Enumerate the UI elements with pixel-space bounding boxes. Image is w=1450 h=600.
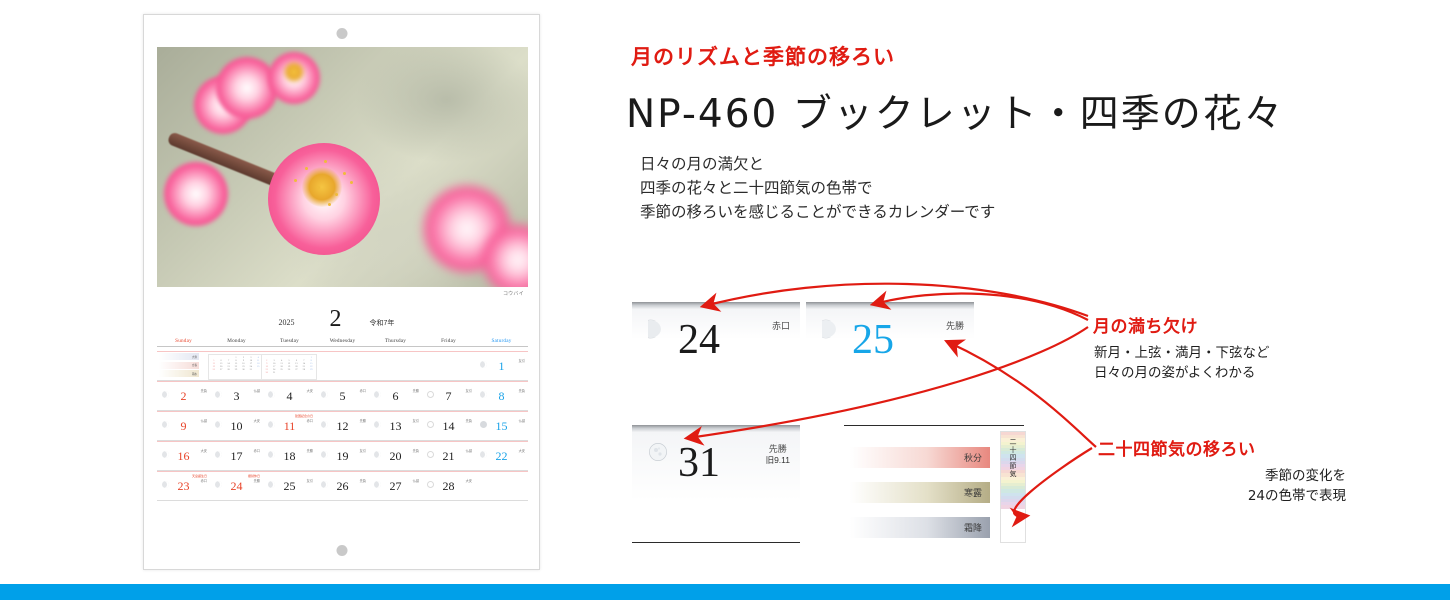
moon-phase-icon [268, 451, 275, 458]
annotation-line: 日々の月の姿がよくわかる [1094, 364, 1270, 384]
mini-calendar-previous-month: 1234567891011121314151617181920212223242… [208, 354, 264, 380]
season-band-label: 霜降 [964, 521, 990, 534]
calendar-day-cell: 18先勝 [263, 441, 316, 470]
day-number: 11 [284, 420, 296, 432]
weekday-header-row: SundayMondayTuesdayWednesdayThursdayFrid… [157, 338, 528, 347]
day-number: 7 [446, 390, 452, 402]
calendar-day-cell: 25友引 [263, 471, 316, 500]
moon-phase-icon [427, 451, 434, 458]
moon-phase-icon [268, 421, 275, 428]
description-line: 季節の移ろいを感じることができるカレンダーです [640, 200, 995, 224]
sample-day-number: 25 [852, 319, 894, 361]
rokuyou-label: 大安 [254, 419, 260, 423]
holiday-label: 天皇誕生日 [192, 474, 207, 478]
moon-phase-icon [374, 481, 381, 488]
rokuyou-label: 友引 [307, 479, 313, 483]
page-title: NP-460 ブックレット・四季の花々 [626, 83, 1285, 139]
weekday-header-saturday: Saturday [475, 338, 528, 347]
calendar-era: 令和7年 [370, 318, 395, 328]
sample-rokuyou: 先勝 [946, 321, 964, 332]
moon-phase-icon [427, 421, 434, 428]
holiday-label: 建国記念の日 [295, 414, 313, 418]
moon-phase-icon [321, 451, 328, 458]
rokuyou-label: 大安 [519, 449, 525, 453]
moon-phase-icon [321, 481, 328, 488]
rokuyou-label: 先勝 [413, 389, 419, 393]
rokuyou-label: 先負 [360, 479, 366, 483]
sample-rokuyou: 赤口 [772, 321, 790, 332]
band-legend-label: 立春 [192, 363, 197, 367]
annotation-body-moon: 新月・上弦・満月・下弦など日々の月の姿がよくわかる [1094, 344, 1270, 383]
calendar-day-cell: 28大安 [422, 471, 475, 500]
moon-phase-icon [268, 391, 275, 398]
sample-day-31: 31 先勝 旧9.11 [632, 425, 800, 543]
calendar-day-cell: 19友引 [316, 441, 369, 470]
day-number: 3 [234, 390, 240, 402]
band-legend-item: 大寒 [159, 353, 199, 360]
product-info-panel: 月のリズムと季節の移ろい NP-460 ブックレット・四季の花々 日々の月の満欠… [626, 0, 1450, 600]
calendar-day-cell: 12先勝 [316, 411, 369, 440]
moon-phase-icon [215, 451, 222, 458]
calendar-empty-cell: 1234567891011121314151617181920212223242… [263, 351, 316, 380]
day-number: 28 [443, 480, 455, 492]
moon-phase-icon [427, 391, 434, 398]
sample-day-number: 31 [678, 442, 720, 484]
day-number: 15 [496, 420, 508, 432]
calendar-day-cell: 1友引 [475, 351, 528, 380]
annotation-title-moon: 月の満ち欠け [1093, 312, 1198, 337]
day-number: 20 [390, 450, 402, 462]
moon-phase-icon [162, 421, 169, 428]
calendar-day-cell: 13友引 [369, 411, 422, 440]
weekday-header-wednesday: Wednesday [316, 338, 369, 347]
day-number: 8 [499, 390, 505, 402]
moon-phase-icon [427, 481, 434, 488]
rokuyou-label: 先勝 [360, 419, 366, 423]
annotation-line: 新月・上弦・満月・下弦など [1094, 344, 1270, 364]
rokuyou-label: 先負 [413, 449, 419, 453]
day-number: 17 [231, 450, 243, 462]
moon-phase-icon [374, 391, 381, 398]
moon-phase-icon-waning-crescent [648, 319, 668, 339]
calendar-empty-cell [369, 351, 422, 380]
sample-day-24: 24 赤口 [632, 302, 800, 358]
rokuyou-label: 友引 [360, 449, 366, 453]
lead-copy: 月のリズムと季節の移ろい [631, 41, 895, 71]
calendar-day-cell: 17赤口 [210, 441, 263, 470]
rokuyou-label: 赤口 [307, 419, 313, 423]
weekday-header-monday: Monday [210, 338, 263, 347]
calendar-day-cell: 14先負 [422, 411, 475, 440]
annotation-line: 24の色帯で表現 [1116, 487, 1346, 507]
moon-phase-icon-gibbous [648, 442, 668, 462]
rokuyou-label: 先勝 [254, 479, 260, 483]
calendar-empty-cell [475, 471, 528, 500]
moon-phase-icon-crescent [822, 319, 842, 339]
calendar-day-cell: 5赤口 [316, 381, 369, 410]
calendar-header: 2025 2 令和7年 [144, 307, 539, 339]
calendar-day-cell: 26先負 [316, 471, 369, 500]
calendar-day-cell: 24先勝振替休日 [210, 471, 263, 500]
rokuyou-label: 赤口 [201, 479, 207, 483]
calendar-week-row: 大寒立春雨水 123456789101112131415161718192021… [157, 351, 528, 381]
moon-phase-icon [374, 421, 381, 428]
annotation-title-season: 二十四節気の移ろい [1098, 435, 1256, 460]
calendar-day-cell: 11赤口建国記念の日 [263, 411, 316, 440]
calendar-day-cell: 9仏滅 [157, 411, 210, 440]
calendar-day-cell: 27仏滅 [369, 471, 422, 500]
rokuyou-label: 仏滅 [254, 389, 260, 393]
moon-phase-icon [215, 421, 222, 428]
photo-caption: コウバイ [503, 290, 524, 297]
plum-blossom-photo [157, 47, 528, 287]
day-number: 26 [337, 480, 349, 492]
description-line: 日々の月の満欠と [640, 152, 995, 176]
moon-phase-icon [215, 391, 222, 398]
moon-phase-icon [480, 451, 487, 458]
rokuyou-label: 先負 [519, 389, 525, 393]
moon-phase-icon [162, 481, 169, 488]
sample-rokuyou: 先勝 旧9.11 [766, 444, 790, 466]
day-number: 13 [390, 420, 402, 432]
moon-phase-icon [374, 451, 381, 458]
season-band: 霜降 [850, 517, 990, 538]
calendar-sheet: コウバイ 2025 2 令和7年 SundayMondayTuesdayWedn… [143, 14, 540, 570]
band-legend-label: 大寒 [192, 355, 197, 359]
day-number: 9 [181, 420, 187, 432]
season-color-bands-panel: 秋分 寒露 霜降 二十四節気 [844, 425, 1024, 543]
calendar-week-row: 2先負3仏滅4大安5赤口6先勝7友引8先負 [157, 381, 528, 411]
day-number: 23 [178, 480, 190, 492]
calendar-day-cell: 15仏滅 [475, 411, 528, 440]
footer-bar [0, 584, 1450, 600]
weekday-header-friday: Friday [422, 338, 475, 347]
band-legend-label: 雨水 [192, 372, 197, 376]
day-number: 5 [340, 390, 346, 402]
moon-phase-icon [162, 391, 169, 398]
weekday-header-sunday: Sunday [157, 338, 210, 347]
band-legend-item: 雨水 [159, 370, 199, 377]
twenty-four-terms-strip: 二十四節気 [1000, 431, 1026, 543]
rokuyou-label: 先負 [466, 419, 472, 423]
season-band: 秋分 [850, 447, 990, 468]
calendar-day-cell: 21仏滅 [422, 441, 475, 470]
moon-phase-icon [480, 421, 487, 428]
moon-phase-icon [268, 481, 275, 488]
moon-phase-icon [480, 361, 487, 368]
calendar-week-row: 16大安17赤口18先勝19友引20先負21仏滅22大安 [157, 441, 528, 471]
weekday-header-thursday: Thursday [369, 338, 422, 347]
moon-phase-icon [480, 391, 487, 398]
calendar-day-cell: 23赤口天皇誕生日 [157, 471, 210, 500]
day-number: 16 [178, 450, 190, 462]
day-number: 22 [496, 450, 508, 462]
day-number: 25 [284, 480, 296, 492]
calendar-day-cell: 3仏滅 [210, 381, 263, 410]
day-number: 24 [231, 480, 243, 492]
calendar-day-cell: 2先負 [157, 381, 210, 410]
rokuyou-label: 友引 [519, 359, 525, 363]
day-number: 18 [284, 450, 296, 462]
rokuyou-label: 先負 [201, 389, 207, 393]
calendar-empty-cell [422, 351, 475, 380]
day-number: 19 [337, 450, 349, 462]
day-number: 1 [499, 360, 505, 372]
holiday-label: 振替休日 [248, 474, 260, 478]
day-number: 12 [337, 420, 349, 432]
season-band-label: 寒露 [964, 486, 990, 499]
day-number: 4 [287, 390, 293, 402]
calendar-day-cell: 4大安 [263, 381, 316, 410]
calendar-day-cell: 22大安 [475, 441, 528, 470]
sample-day-25: 25 先勝 [806, 302, 974, 358]
calendar-day-cell: 6先勝 [369, 381, 422, 410]
day-number: 14 [443, 420, 455, 432]
moon-phase-icon [321, 391, 328, 398]
calendar-day-cell: 16大安 [157, 441, 210, 470]
band-legend-item: 立春 [159, 362, 199, 369]
rokuyou-label: 仏滅 [413, 479, 419, 483]
description-line: 四季の花々と二十四節気の色帯で [640, 176, 995, 200]
season-band-label: 秋分 [964, 451, 990, 464]
moon-phase-icon [162, 451, 169, 458]
rokuyou-label: 仏滅 [201, 419, 207, 423]
rokuyou-label: 赤口 [360, 389, 366, 393]
rokuyou-label: 友引 [413, 419, 419, 423]
season-term-stripe [1001, 505, 1025, 508]
rokuyou-label: 大安 [201, 449, 207, 453]
rokuyou-label: 大安 [466, 479, 472, 483]
rokuyou-label: 赤口 [254, 449, 260, 453]
day-number: 21 [443, 450, 455, 462]
annotation-line: 季節の変化を [1116, 467, 1346, 487]
rokuyou-label: 仏滅 [519, 419, 525, 423]
day-number: 10 [231, 420, 243, 432]
calendar-empty-cell: 1234567891011121314151617181920212223242… [210, 351, 263, 380]
season-band: 寒露 [850, 482, 990, 503]
moon-phase-icon [321, 421, 328, 428]
calendar-week-row: 23赤口天皇誕生日24先勝振替休日25友引26先負27仏滅28大安 [157, 471, 528, 501]
calendar-day-cell: 20先負 [369, 441, 422, 470]
sample-old-date: 旧9.11 [766, 455, 790, 466]
rokuyou-label: 大安 [307, 389, 313, 393]
sample-day-number: 24 [678, 319, 720, 361]
calendar-day-cell: 8先負 [475, 381, 528, 410]
day-number: 6 [393, 390, 399, 402]
day-number: 27 [390, 480, 402, 492]
rokuyou-label: 先勝 [307, 449, 313, 453]
product-description: 日々の月の満欠と四季の花々と二十四節気の色帯で季節の移ろいを感じることができるカ… [640, 152, 995, 224]
calendar-day-cell: 10大安 [210, 411, 263, 440]
calendar-week-row: 9仏滅10大安11赤口建国記念の日12先勝13友引14先負15仏滅 [157, 411, 528, 441]
mini-calendar-next-month: 1234567891011121314151617181920212223242… [261, 354, 317, 380]
calendar-empty-cell [316, 351, 369, 380]
rokuyou-label: 友引 [466, 389, 472, 393]
calendar-month: 2 [330, 307, 342, 331]
calendar-year: 2025 [279, 318, 295, 327]
day-number: 2 [181, 390, 187, 402]
weekday-header-tuesday: Tuesday [263, 338, 316, 347]
twenty-four-terms-label: 二十四節気 [1008, 438, 1018, 478]
calendar-day-cell: 7友引 [422, 381, 475, 410]
binding-hole-top [336, 28, 347, 39]
binding-hole-bottom [336, 545, 347, 556]
rokuyou-label: 仏滅 [466, 449, 472, 453]
annotation-body-season: 季節の変化を24の色帯で表現 [1116, 467, 1346, 506]
moon-phase-icon [215, 481, 222, 488]
sample-rokuyou-text: 先勝 [766, 444, 790, 455]
band-legend: 大寒立春雨水 [159, 353, 199, 379]
calendar-empty-cell: 大寒立春雨水 [157, 351, 210, 380]
